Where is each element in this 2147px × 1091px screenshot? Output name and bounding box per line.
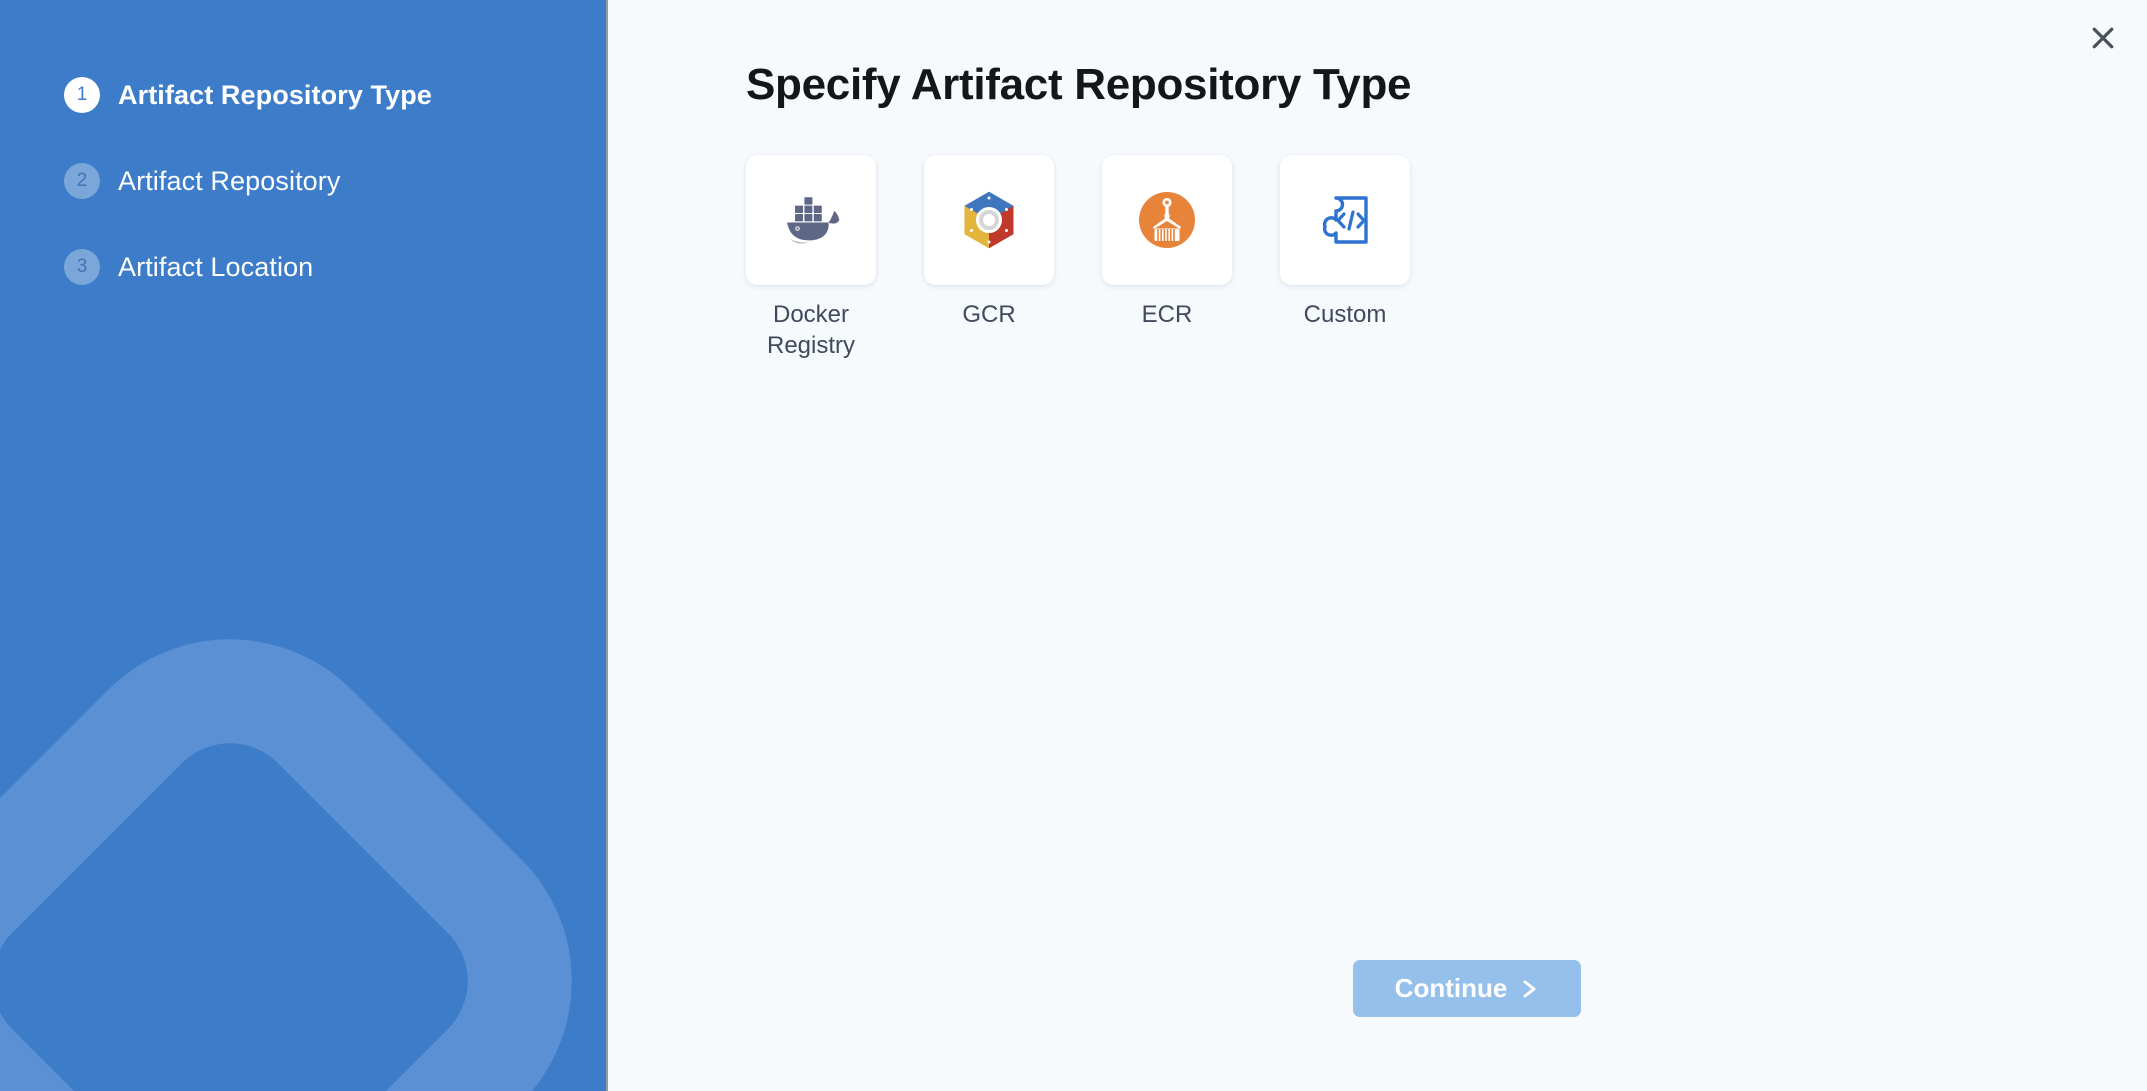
close-icon (2088, 23, 2118, 53)
option-docker-registry[interactable]: Docker Registry (746, 155, 876, 361)
google-container-registry-icon (959, 188, 1019, 252)
sidebar-step-artifact-repository-type[interactable]: 1 Artifact Repository Type (0, 64, 606, 126)
option-card[interactable] (1102, 155, 1232, 285)
step-label: Artifact Repository Type (118, 80, 432, 111)
option-custom[interactable]: Custom (1280, 155, 1410, 361)
continue-button[interactable]: Continue (1353, 960, 1581, 1017)
option-label: Docker Registry (751, 299, 871, 361)
aws-ecr-icon (1136, 189, 1198, 251)
chevron-right-icon (1521, 977, 1539, 1001)
wizard-step-list: 1 Artifact Repository Type 2 Artifact Re… (0, 0, 606, 298)
option-label: GCR (962, 299, 1015, 330)
close-button[interactable] (2079, 14, 2127, 62)
step-label: Artifact Repository (118, 166, 340, 197)
step-number-badge: 3 (64, 249, 100, 285)
option-label: ECR (1142, 299, 1193, 330)
custom-code-puzzle-icon (1316, 191, 1374, 249)
step-number-badge: 1 (64, 77, 100, 113)
wizard-sidebar: 1 Artifact Repository Type 2 Artifact Re… (0, 0, 608, 1091)
sidebar-step-artifact-repository[interactable]: 2 Artifact Repository (0, 150, 606, 212)
repository-type-options: Docker Registry (746, 155, 1410, 361)
option-gcr[interactable]: GCR (924, 155, 1054, 361)
wizard-content: Specify Artifact Repository Type (608, 0, 2147, 1091)
step-number-badge: 2 (64, 163, 100, 199)
option-card[interactable] (1280, 155, 1410, 285)
step-label: Artifact Location (118, 252, 313, 283)
option-card[interactable] (924, 155, 1054, 285)
continue-button-label: Continue (1395, 973, 1508, 1004)
artifact-repository-wizard: 1 Artifact Repository Type 2 Artifact Re… (0, 0, 2147, 1091)
sidebar-step-artifact-location[interactable]: 3 Artifact Location (0, 236, 606, 298)
option-label: Custom (1304, 299, 1387, 330)
page-title: Specify Artifact Repository Type (746, 60, 1411, 110)
option-ecr[interactable]: ECR (1102, 155, 1232, 361)
docker-whale-icon (778, 192, 844, 248)
option-card[interactable] (746, 155, 876, 285)
sidebar-watermark-decoration (0, 621, 590, 1091)
